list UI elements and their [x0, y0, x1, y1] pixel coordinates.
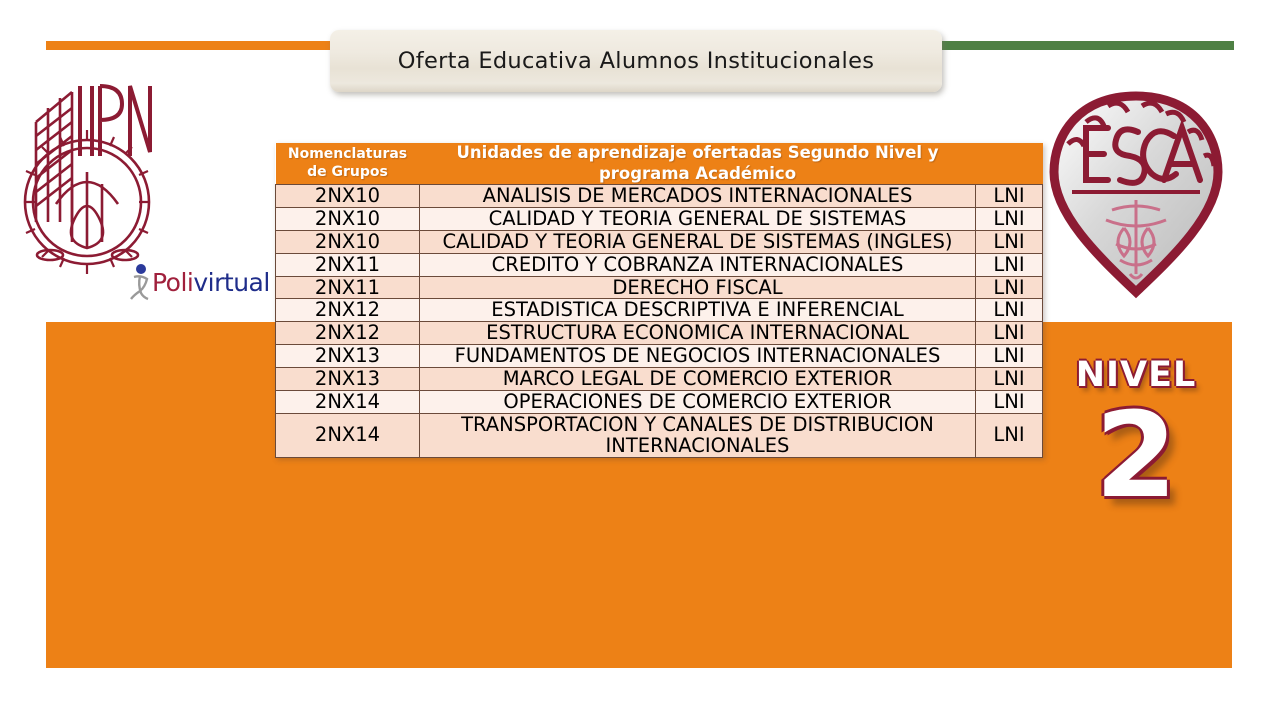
- cell-group: 2NX13: [276, 367, 420, 390]
- cell-unit: ANALISIS DE MERCADOS INTERNACIONALES: [420, 185, 976, 208]
- cell-group: 2NX12: [276, 322, 420, 345]
- cell-unit: ESTADISTICA DESCRIPTIVA E INFERENCIAL: [420, 299, 976, 322]
- cell-unit: TRANSPORTACION Y CANALES DE DISTRIBUCION…: [420, 413, 976, 458]
- table-body: 2NX10ANALISIS DE MERCADOS INTERNACIONALE…: [276, 185, 1043, 458]
- esca-logo: [1046, 88, 1226, 300]
- cell-group: 2NX10: [276, 185, 420, 208]
- table-row: 2NX11DERECHO FISCALLNI: [276, 276, 1043, 299]
- column-header-group-line1: Nomenclaturas: [276, 146, 420, 164]
- cell-program: LNI: [976, 390, 1043, 413]
- level-badge-number: 2: [1046, 399, 1226, 511]
- cell-group: 2NX14: [276, 413, 420, 458]
- cell-unit: ESTRUCTURA ECONOMICA INTERNACIONAL: [420, 322, 976, 345]
- cell-group: 2NX11: [276, 276, 420, 299]
- polivirtual-logo: Polivirtual: [128, 262, 270, 302]
- column-header-group-line2: de Grupos: [276, 164, 420, 182]
- cell-unit: DERECHO FISCAL: [420, 276, 976, 299]
- cell-unit: CREDITO Y COBRANZA INTERNACIONALES: [420, 253, 976, 276]
- cell-program: LNI: [976, 253, 1043, 276]
- polivirtual-label-part2: virtual: [193, 268, 269, 297]
- column-header-units: Unidades de aprendizaje ofertadas Segund…: [420, 143, 976, 185]
- cell-program: LNI: [976, 208, 1043, 231]
- cell-unit: MARCO LEGAL DE COMERCIO EXTERIOR: [420, 367, 976, 390]
- cell-program: LNI: [976, 322, 1043, 345]
- page-title: Oferta Educativa Alumnos Institucionales: [398, 48, 874, 74]
- cell-program: LNI: [976, 345, 1043, 368]
- ipn-logo: [22, 52, 152, 282]
- table-row: 2NX10CALIDAD Y TEORIA GENERAL DE SISTEMA…: [276, 230, 1043, 253]
- slide-canvas: Oferta Educativa Alumnos Institucionales: [0, 0, 1280, 720]
- table-row: 2NX13FUNDAMENTOS DE NEGOCIOS INTERNACION…: [276, 345, 1043, 368]
- table-row: 2NX12ESTRUCTURA ECONOMICA INTERNACIONALL…: [276, 322, 1043, 345]
- cell-group: 2NX10: [276, 208, 420, 231]
- cell-group: 2NX13: [276, 345, 420, 368]
- table-row: 2NX14OPERACIONES DE COMERCIO EXTERIORLNI: [276, 390, 1043, 413]
- table-header-row: Nomenclaturas de Grupos Unidades de apre…: [276, 143, 1043, 185]
- top-accent-bar-orange: [46, 41, 336, 50]
- cell-group: 2NX12: [276, 299, 420, 322]
- cell-group: 2NX14: [276, 390, 420, 413]
- cell-unit: FUNDAMENTOS DE NEGOCIOS INTERNACIONALES: [420, 345, 976, 368]
- table-row: 2NX10ANALISIS DE MERCADOS INTERNACIONALE…: [276, 185, 1043, 208]
- cell-program: LNI: [976, 230, 1043, 253]
- slide-title-plaque: Oferta Educativa Alumnos Institucionales: [330, 30, 942, 92]
- top-accent-bar-green: [938, 41, 1234, 50]
- table-row: 2NX10CALIDAD Y TEORIA GENERAL DE SISTEMA…: [276, 208, 1043, 231]
- column-header-program: [976, 143, 1043, 185]
- level-badge: NIVEL 2: [1046, 358, 1226, 511]
- cell-program: LNI: [976, 185, 1043, 208]
- cell-unit: OPERACIONES DE COMERCIO EXTERIOR: [420, 390, 976, 413]
- cell-program: LNI: [976, 276, 1043, 299]
- polivirtual-figure-icon: [128, 263, 152, 301]
- course-offer-table: Nomenclaturas de Grupos Unidades de apre…: [275, 143, 1043, 458]
- column-header-group: Nomenclaturas de Grupos: [276, 143, 420, 185]
- table-row: 2NX14TRANSPORTACION Y CANALES DE DISTRIB…: [276, 413, 1043, 458]
- cell-program: LNI: [976, 367, 1043, 390]
- cell-program: LNI: [976, 299, 1043, 322]
- table-row: 2NX12ESTADISTICA DESCRIPTIVA E INFERENCI…: [276, 299, 1043, 322]
- cell-unit: CALIDAD Y TEORIA GENERAL DE SISTEMAS (IN…: [420, 230, 976, 253]
- cell-group: 2NX11: [276, 253, 420, 276]
- cell-unit: CALIDAD Y TEORIA GENERAL DE SISTEMAS: [420, 208, 976, 231]
- polivirtual-label-part1: Poli: [152, 268, 193, 297]
- table-row: 2NX13MARCO LEGAL DE COMERCIO EXTERIORLNI: [276, 367, 1043, 390]
- cell-program: LNI: [976, 413, 1043, 458]
- cell-group: 2NX10: [276, 230, 420, 253]
- table-row: 2NX11CREDITO Y COBRANZA INTERNACIONALESL…: [276, 253, 1043, 276]
- table-head: Nomenclaturas de Grupos Unidades de apre…: [276, 143, 1043, 185]
